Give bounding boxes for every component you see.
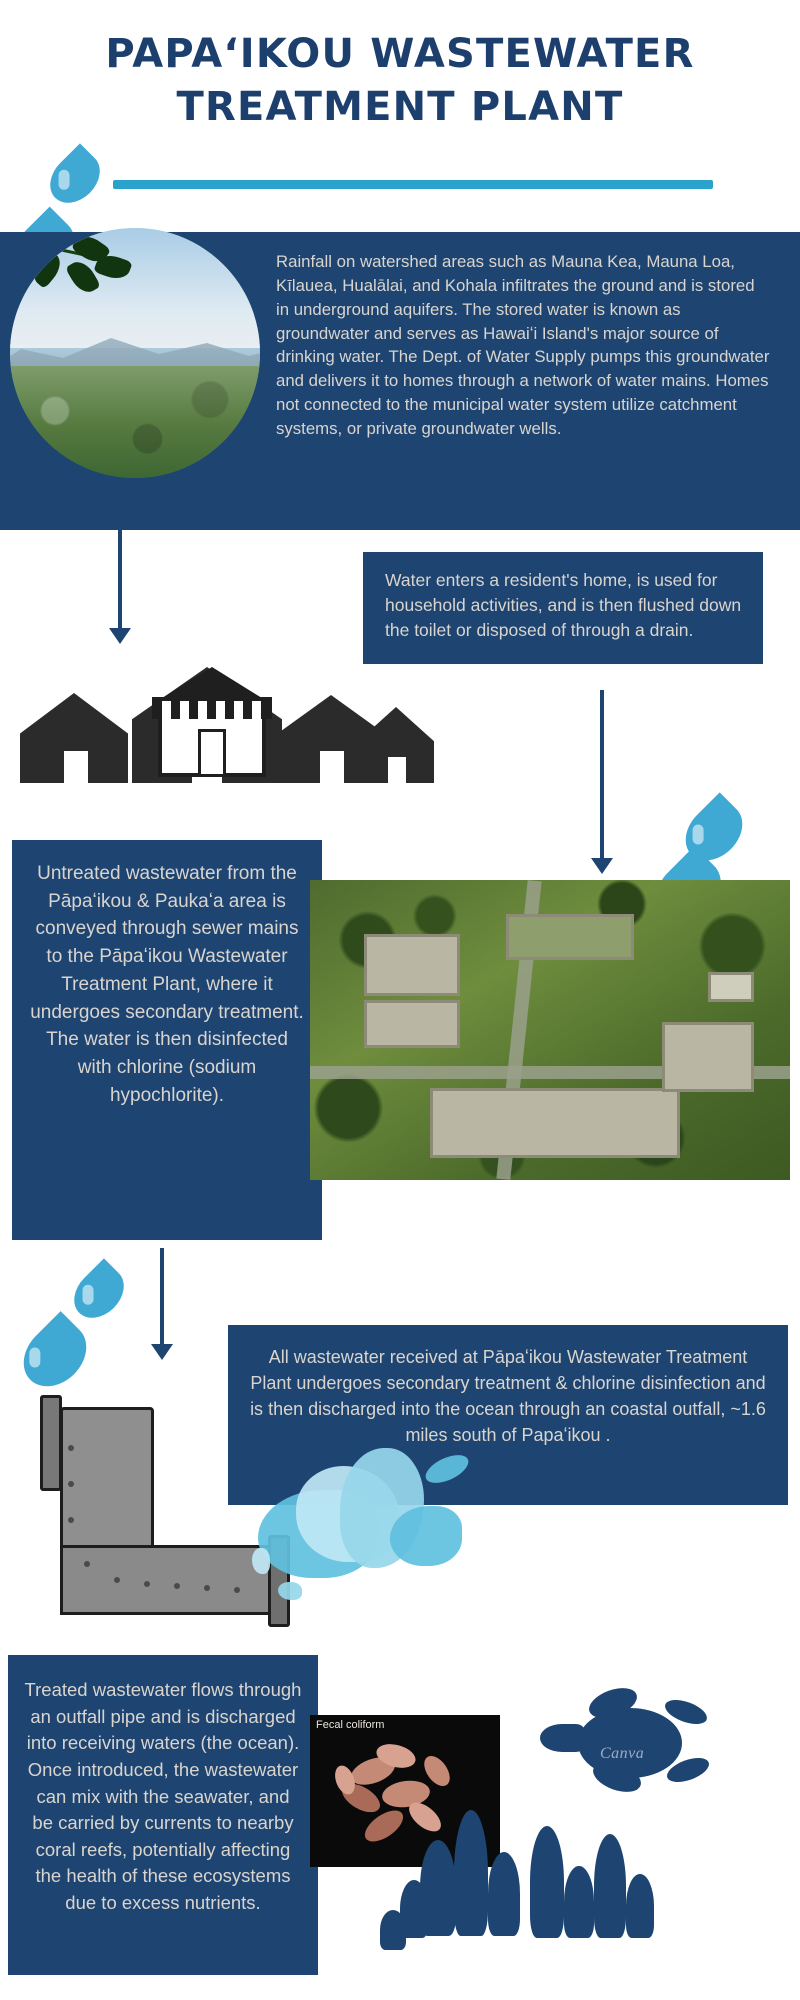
aerial-shed xyxy=(708,972,754,1002)
watershed-photo xyxy=(10,228,260,478)
water-drop-icon xyxy=(40,143,109,212)
neighborhood-houses-icon xyxy=(14,645,434,795)
aerial-basin xyxy=(430,1088,680,1158)
water-splash-illustration xyxy=(248,1440,498,1660)
pipe-horizontal-section xyxy=(60,1545,280,1615)
treated-text: Treated wastewater flows through an outf… xyxy=(25,1679,302,1913)
canva-watermark: Canva xyxy=(600,1745,644,1763)
flow-arrow-down xyxy=(590,690,614,880)
page-title-line-1: PAPAʻIKOU WASTEWATER xyxy=(40,28,760,81)
photo-foliage xyxy=(10,228,155,333)
photo-land xyxy=(10,366,260,479)
untreated-text-panel: Untreated wastewater from the Pāpaʻikou … xyxy=(12,840,322,1240)
shop-building-icon xyxy=(152,667,272,777)
page-title-line-2: TREATMENT PLANT xyxy=(40,81,760,134)
water-drop-icon xyxy=(64,1258,133,1327)
page-title: PAPAʻIKOU WASTEWATER TREATMENT PLANT xyxy=(40,28,760,134)
aerial-tank xyxy=(364,934,460,996)
coral-reef-illustration xyxy=(380,1770,710,1980)
all-wastewater-text: All wastewater received at Pāpaʻikou Was… xyxy=(250,1347,766,1445)
title-divider-rule xyxy=(113,180,713,189)
rainfall-text: Rainfall on watershed areas such as Maun… xyxy=(276,252,769,438)
fecal-coliform-label: Fecal coliform xyxy=(316,1719,384,1731)
aerial-plant-photo xyxy=(310,880,790,1180)
aerial-tank xyxy=(364,1000,460,1048)
treated-text-panel: Treated wastewater flows through an outf… xyxy=(8,1655,318,1975)
page-number: 29 xyxy=(775,1980,788,1994)
aerial-building xyxy=(662,1022,754,1092)
untreated-text: Untreated wastewater from the Pāpaʻikou … xyxy=(30,863,304,1106)
infographic-canvas: PAPAʻIKOU WASTEWATER TREATMENT PLANT Rai… xyxy=(0,0,800,2000)
aerial-tank xyxy=(506,914,634,960)
flow-arrow-down xyxy=(108,528,132,648)
home-text: Water enters a resident's home, is used … xyxy=(385,570,741,640)
pipe-flange xyxy=(40,1395,62,1491)
flow-arrow-down xyxy=(150,1248,174,1368)
